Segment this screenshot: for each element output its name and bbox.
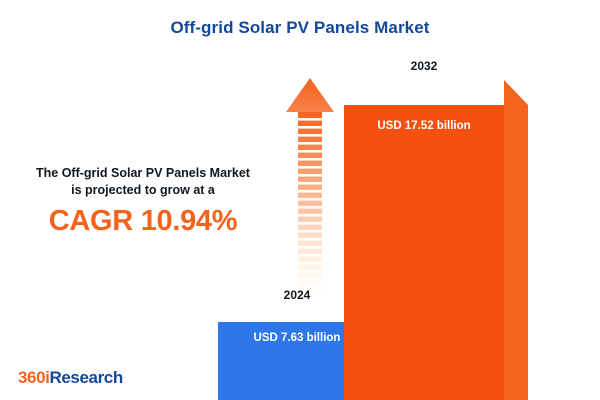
logo-text-research: Research [50, 368, 123, 387]
bar-2032-face [344, 105, 504, 400]
growth-arrow-icon [284, 78, 336, 298]
annotation-line-2: is projected to grow at a [8, 182, 278, 199]
logo-text-360: 360 [18, 368, 45, 387]
bar-label-2032: 2032 [344, 59, 504, 73]
cagr-value: CAGR 10.94% [8, 205, 278, 238]
infographic-canvas: Off-grid Solar PV Panels Market The Off-… [0, 0, 600, 400]
brand-logo: 360iResearch [18, 368, 123, 388]
cagr-annotation: The Off-grid Solar PV Panels Market is p… [8, 165, 278, 238]
bar-2032-top-bevel [504, 80, 528, 105]
annotation-line-1: The Off-grid Solar PV Panels Market [8, 165, 278, 182]
bar-2032-side [504, 105, 528, 400]
page-title: Off-grid Solar PV Panels Market [0, 18, 600, 38]
bar-2032-value: USD 17.52 billion [344, 105, 504, 132]
bar-2032: USD 17.52 billion [344, 80, 528, 400]
